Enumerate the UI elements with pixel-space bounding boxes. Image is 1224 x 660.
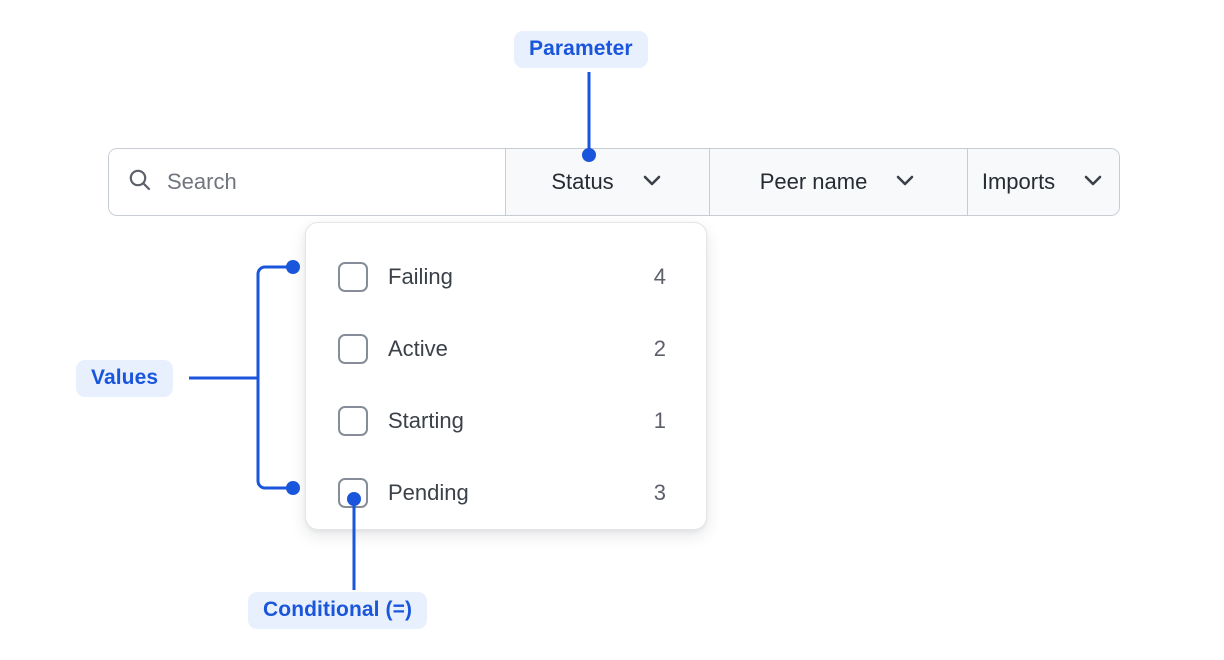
filter-dropdown-status-label: Status [551, 169, 613, 195]
chevron-down-icon [893, 168, 917, 197]
search-icon [127, 167, 153, 198]
checkbox-failing[interactable] [338, 262, 368, 292]
annotation-label-parameter: Parameter [514, 31, 648, 68]
filter-dropdown-peer-name[interactable]: Peer name [709, 149, 967, 215]
dropdown-option-count: 4 [654, 264, 666, 290]
checkbox-starting[interactable] [338, 406, 368, 436]
annotation-label-values: Values [76, 360, 173, 397]
dropdown-option-pending[interactable]: Pending 3 [306, 457, 706, 529]
filter-bar: Status Peer name Imports [108, 148, 1120, 216]
chevron-down-icon [640, 168, 664, 197]
chevron-down-icon [1081, 168, 1105, 197]
dropdown-option-active[interactable]: Active 2 [306, 313, 706, 385]
filter-dropdown-status[interactable]: Status [505, 149, 709, 215]
checkbox-pending[interactable] [338, 478, 368, 508]
dropdown-option-label: Active [388, 336, 654, 362]
filter-dropdown-imports[interactable]: Imports [967, 149, 1119, 215]
annotated-filter-diagram: Parameter Values Conditional (=) Status … [0, 0, 1224, 660]
dropdown-option-count: 3 [654, 480, 666, 506]
dropdown-option-label: Failing [388, 264, 654, 290]
dropdown-option-count: 2 [654, 336, 666, 362]
filter-dropdown-peer-name-label: Peer name [760, 169, 868, 195]
dropdown-option-label: Starting [388, 408, 654, 434]
values-top-dot [286, 260, 300, 274]
search-field[interactable] [109, 149, 505, 215]
filter-dropdown-imports-label: Imports [982, 169, 1055, 195]
values-bracket [258, 267, 292, 488]
dropdown-option-label: Pending [388, 480, 654, 506]
dropdown-option-starting[interactable]: Starting 1 [306, 385, 706, 457]
status-dropdown-panel: Failing 4 Active 2 Starting 1 Pending 3 [305, 222, 707, 530]
search-input[interactable] [167, 169, 467, 195]
dropdown-option-count: 1 [654, 408, 666, 434]
dropdown-option-failing[interactable]: Failing 4 [306, 241, 706, 313]
annotation-label-conditional: Conditional (=) [248, 592, 427, 629]
values-bottom-dot [286, 481, 300, 495]
checkbox-active[interactable] [338, 334, 368, 364]
